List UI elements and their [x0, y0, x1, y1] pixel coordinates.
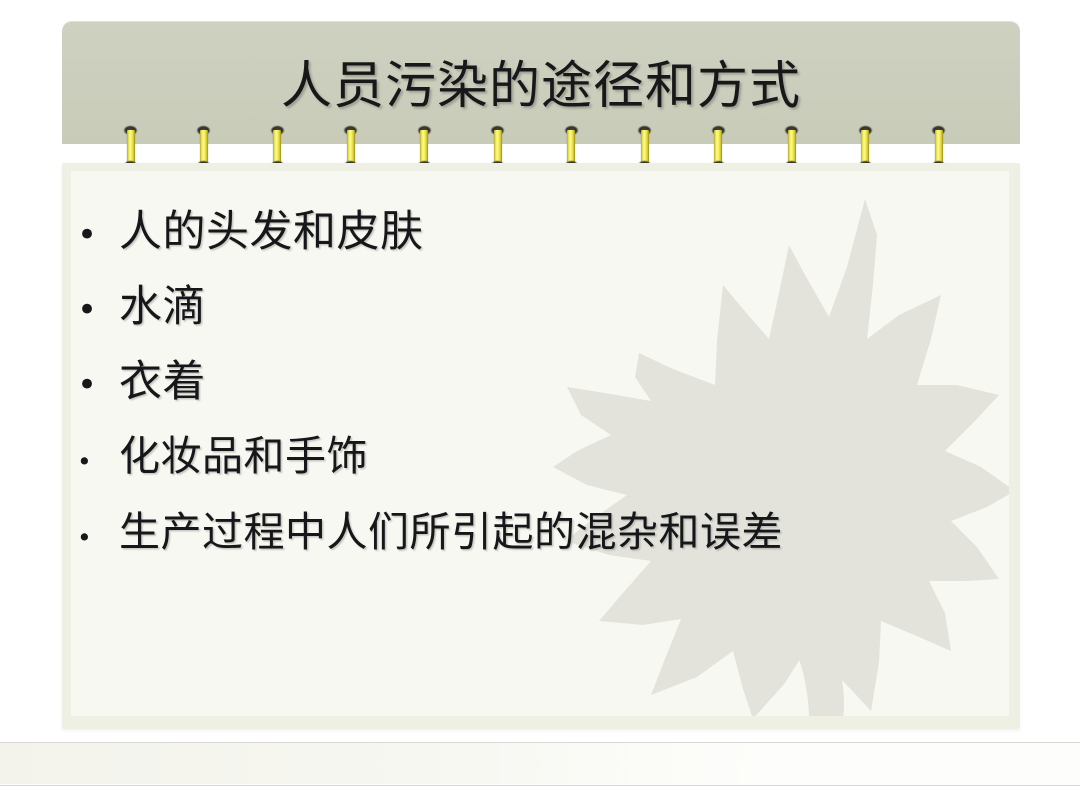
slide-canvas: 人员污染的途径和方式 •人的头发和皮肤•水滴•衣着•化妆品和手饰•生产过程中人们… [0, 0, 1080, 810]
bullet-list: •人的头发和皮肤•水滴•衣着•化妆品和手饰•生产过程中人们所引起的混杂和误差 [77, 197, 1009, 574]
list-item: •生产过程中人们所引起的混杂和误差 [77, 498, 1009, 572]
bullet-marker-icon: • [77, 275, 119, 345]
notepad-page-inner: •人的头发和皮肤•水滴•衣着•化妆品和手饰•生产过程中人们所引起的混杂和误差 [71, 171, 1009, 716]
bullet-marker-icon: • [77, 200, 119, 270]
list-item-label: 生产过程中人们所引起的混杂和误差 [119, 498, 783, 566]
list-item-label: 水滴 [119, 272, 206, 342]
bullet-marker-icon: • [77, 504, 119, 572]
bullet-marker-icon: • [77, 350, 119, 420]
list-item: •人的头发和皮肤 [77, 197, 1009, 270]
page-title: 人员污染的途径和方式 [62, 55, 1020, 119]
list-item-label: 化妆品和手饰 [119, 422, 368, 490]
notepad-page: •人的头发和皮肤•水滴•衣着•化妆品和手饰•生产过程中人们所引起的混杂和误差 [62, 163, 1020, 729]
list-item: •衣着 [77, 347, 1009, 420]
footer-divider-top [0, 742, 1080, 743]
bullet-marker-icon: • [77, 428, 119, 496]
list-item-label: 衣着 [119, 347, 206, 417]
footer-strip-shade [0, 743, 760, 784]
footer-divider-bottom [0, 785, 1080, 786]
list-item: •水滴 [77, 272, 1009, 345]
list-item: •化妆品和手饰 [77, 422, 1009, 496]
list-item-label: 人的头发和皮肤 [119, 197, 424, 267]
